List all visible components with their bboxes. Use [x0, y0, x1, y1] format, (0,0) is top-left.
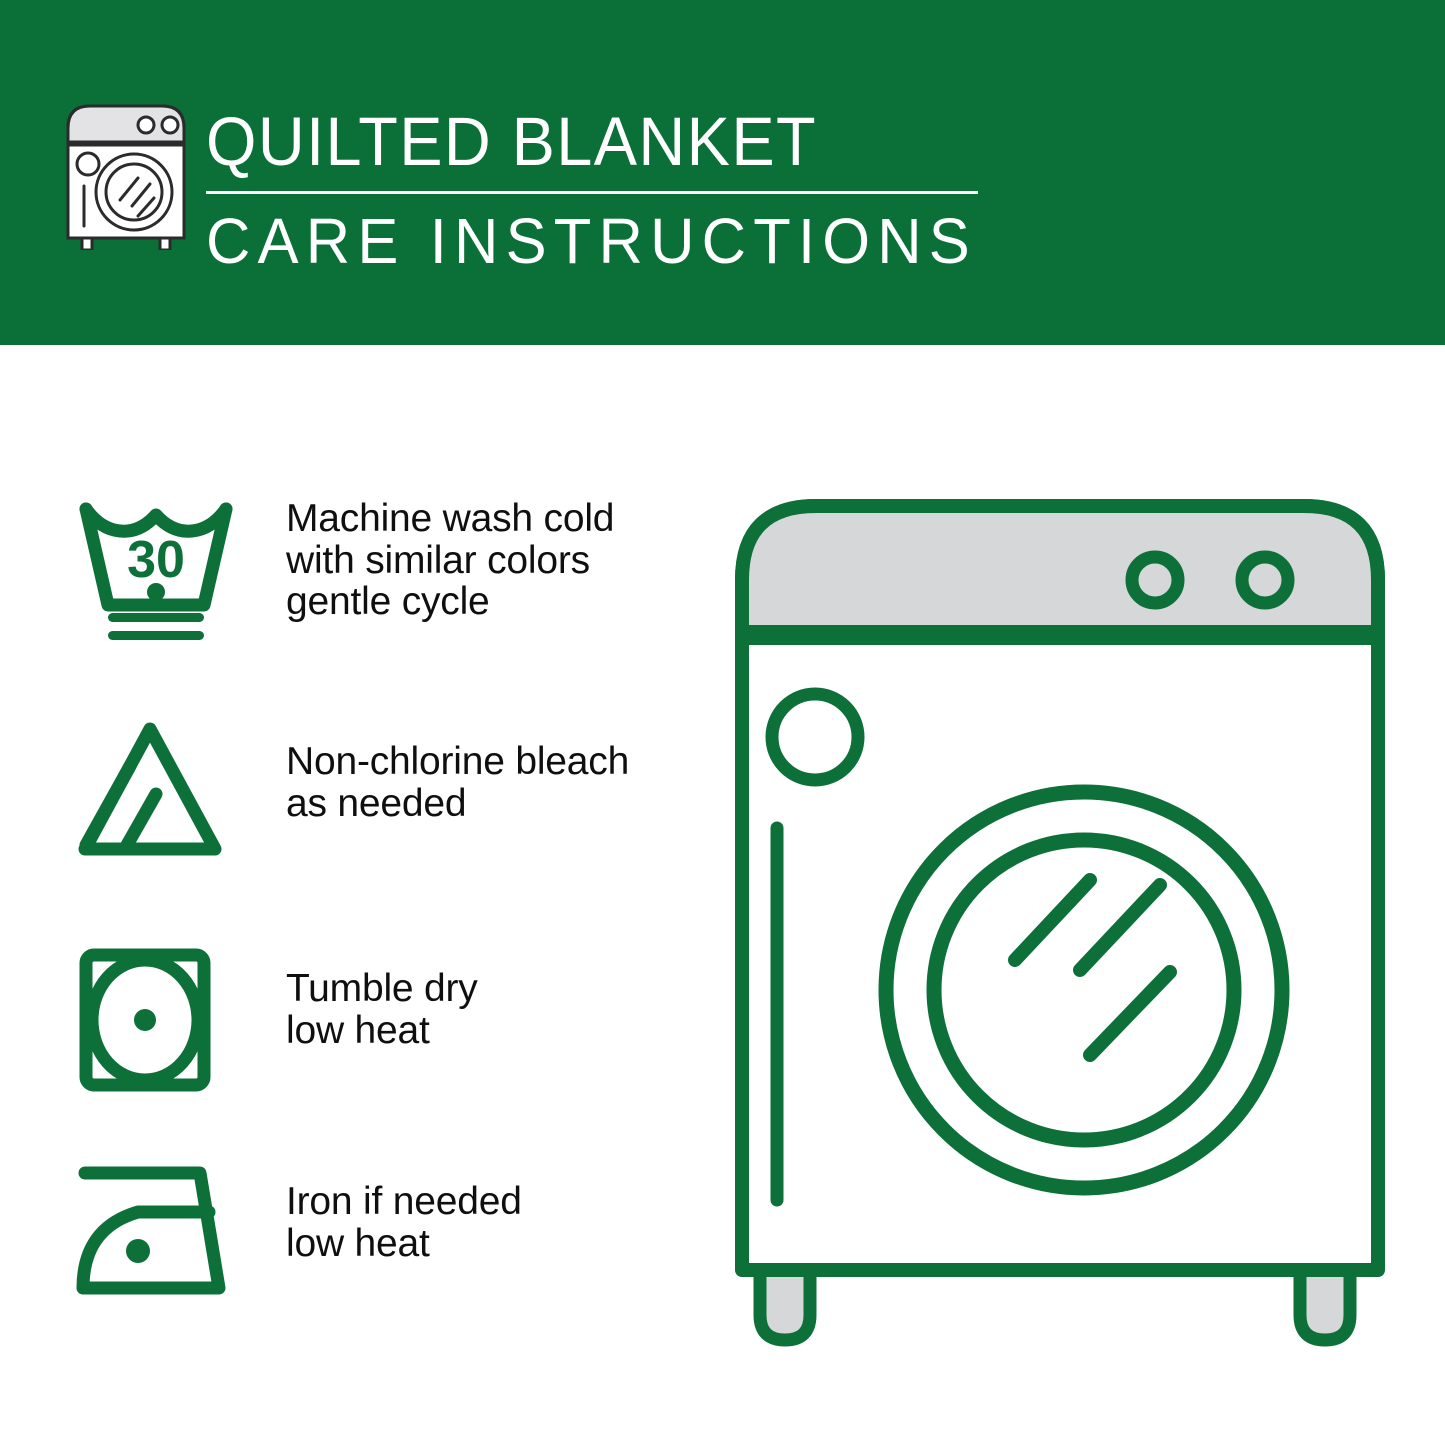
wash-tub-icon: 30 [0, 490, 252, 650]
washing-machine-icon [62, 98, 190, 250]
care-label-tumble-dry: Tumble dry low heat [286, 940, 478, 1051]
care-label-bleach: Non-chlorine bleach as needed [286, 713, 629, 824]
care-label-line: Tumble dry [286, 968, 478, 1010]
care-label-line: with similar colors [286, 540, 614, 582]
front-load-washing-machine-illustration [700, 460, 1420, 1370]
care-label-iron: Iron if needed low heat [286, 1153, 522, 1264]
care-row-bleach: Non-chlorine bleach as needed [0, 713, 700, 873]
care-instructions-list: 30 Machine wash cold with similar colors… [0, 345, 700, 1445]
page-subtitle: CARE INSTRUCTIONS [206, 207, 964, 275]
tumble-dry-icon [0, 940, 252, 1100]
care-label-line: as needed [286, 783, 629, 825]
page-title: QUILTED BLANKET [206, 104, 949, 180]
bleach-triangle-icon [0, 713, 252, 873]
care-label-line: Non-chlorine bleach [286, 741, 629, 783]
care-row-tumble-dry: Tumble dry low heat [0, 940, 700, 1100]
wash-temperature-label: 30 [127, 531, 185, 589]
title-divider [206, 191, 978, 194]
care-row-machine-wash: 30 Machine wash cold with similar colors… [0, 490, 700, 650]
care-label-line: low heat [286, 1223, 522, 1265]
header-title-block: QUILTED BLANKET CARE INSTRUCTIONS [206, 104, 996, 275]
care-label-line: Machine wash cold [286, 498, 614, 540]
care-label-machine-wash: Machine wash cold with similar colors ge… [286, 490, 614, 623]
care-label-line: low heat [286, 1010, 478, 1052]
care-row-iron: Iron if needed low heat [0, 1153, 700, 1313]
care-label-line: gentle cycle [286, 581, 614, 623]
iron-icon [0, 1153, 252, 1313]
header-banner: QUILTED BLANKET CARE INSTRUCTIONS [0, 0, 1445, 345]
care-label-line: Iron if needed [286, 1181, 522, 1223]
